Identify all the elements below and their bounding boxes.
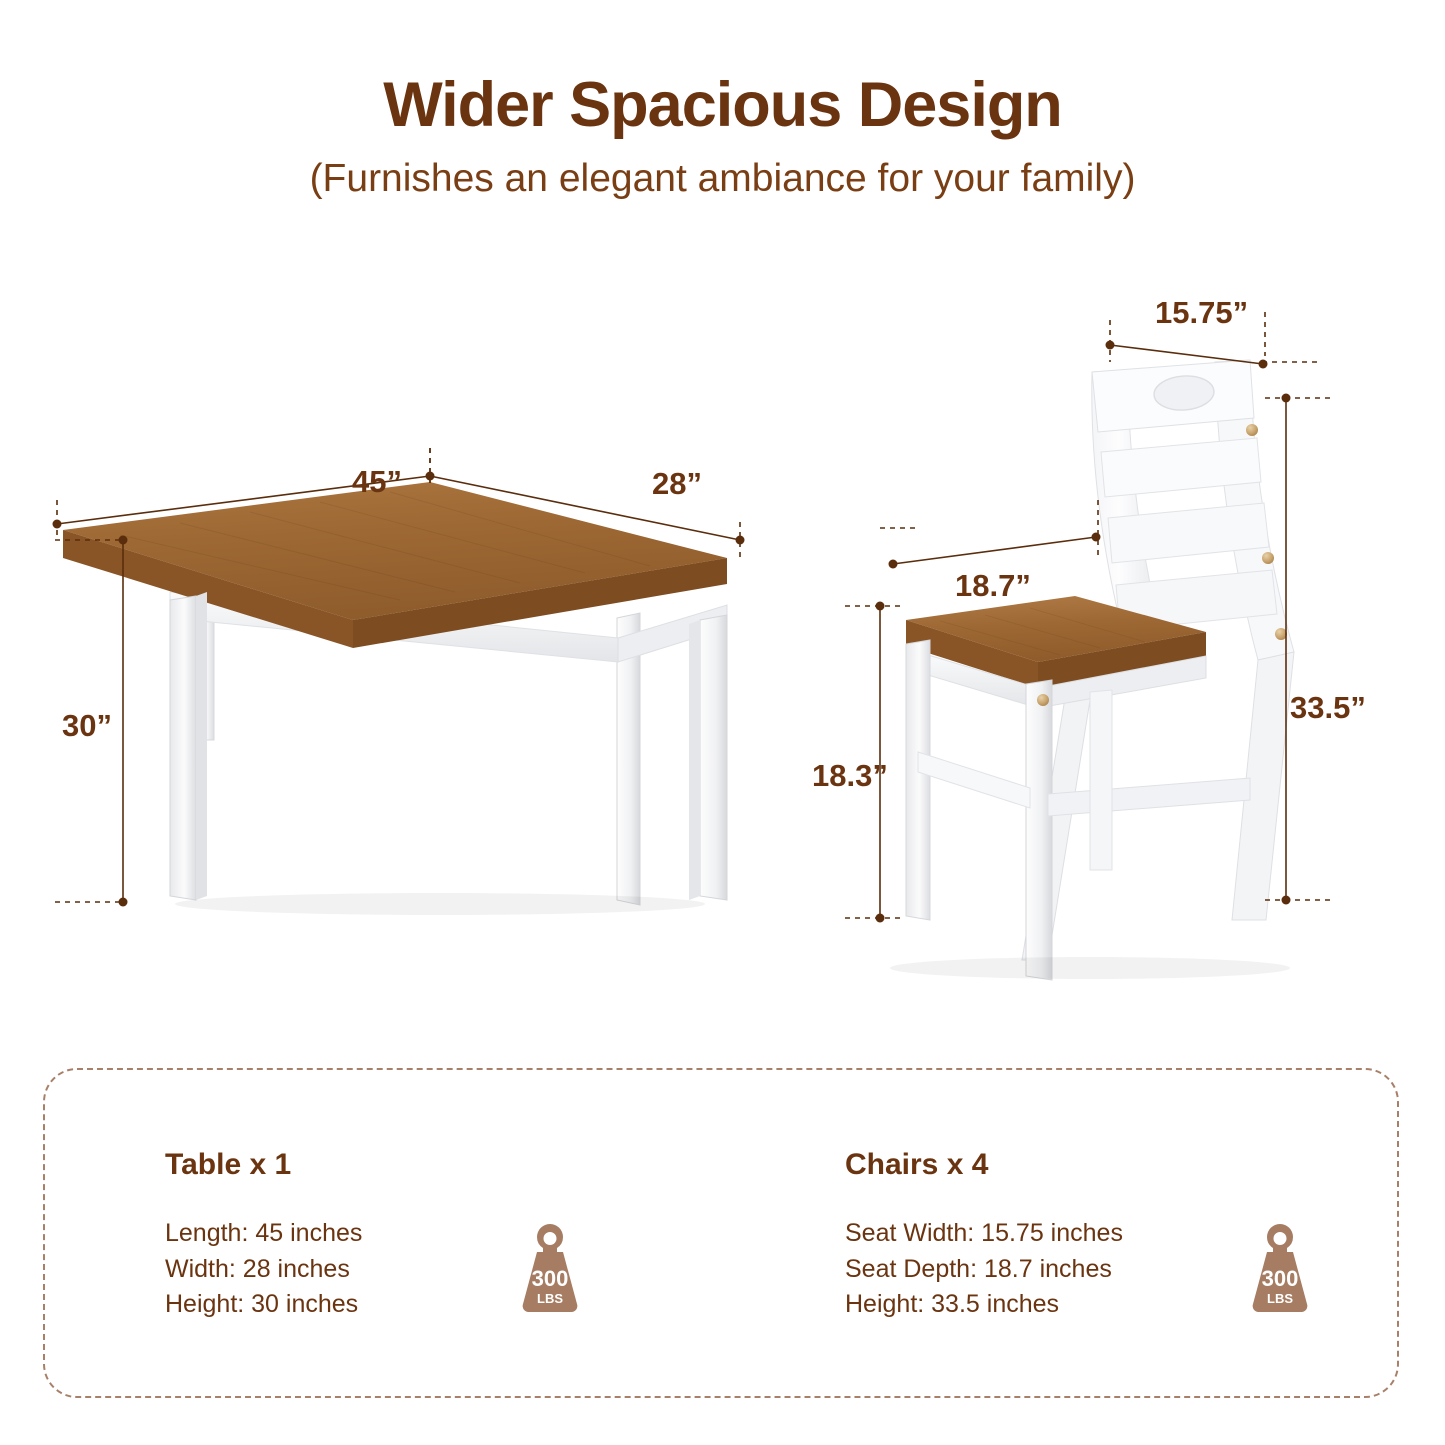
weight-icon: 300 LBS — [1241, 1220, 1319, 1316]
spec-title-chairs: Chairs x 4 — [845, 1148, 1123, 1182]
spec-line-table-length: Length: 45 inches — [165, 1216, 362, 1252]
dimension-label-chair-seat-height: 18.3” — [812, 758, 888, 794]
chair-stretcher-left — [918, 752, 1030, 808]
chair-shadow — [890, 957, 1290, 979]
chair-screw-cap — [1246, 424, 1258, 436]
chair-screw-cap — [1262, 552, 1274, 564]
weight-icon: 300 LBS — [511, 1220, 589, 1316]
table-illustration — [53, 448, 745, 915]
chair-stretcher-center — [1090, 690, 1112, 870]
dimension-line-chair-seat-depth — [880, 500, 1101, 569]
spec-panel: Table x 1 Length: 45 inches Width: 28 in… — [43, 1068, 1399, 1398]
dimension-label-table-width: 28” — [652, 466, 702, 502]
weight-unit: LBS — [1267, 1291, 1293, 1306]
chair-illustration — [845, 312, 1330, 980]
table-leg-front-right — [689, 615, 727, 900]
spec-line-chair-height: Height: 33.5 inches — [845, 1287, 1123, 1323]
dimension-label-chair-seat-depth: 18.7” — [955, 568, 1031, 604]
figures-svg — [0, 300, 1445, 1060]
spec-line-chair-seat-depth: Seat Depth: 18.7 inches — [845, 1252, 1123, 1288]
spec-column-table: Table x 1 Length: 45 inches Width: 28 in… — [165, 1148, 362, 1323]
spec-column-chairs: Chairs x 4 Seat Width: 15.75 inches Seat… — [845, 1148, 1123, 1323]
page-title: Wider Spacious Design — [0, 72, 1445, 138]
dimension-label-chair-seat-width: 15.75” — [1155, 295, 1248, 331]
product-illustrations: 45” 28” 30” 15.75” 18.7” 18.3” 33.5” — [0, 300, 1445, 1060]
weight-unit: LBS — [537, 1291, 563, 1306]
table-leg-front-left — [170, 592, 207, 900]
header: Wider Spacious Design (Furnishes an eleg… — [0, 0, 1445, 201]
weight-capacity-table: 300 LBS — [511, 1220, 589, 1321]
chair-screw-cap — [1037, 694, 1049, 706]
weight-value: 300 — [532, 1266, 569, 1291]
spec-line-chair-seat-width: Seat Width: 15.75 inches — [845, 1216, 1123, 1252]
dimension-label-chair-height: 33.5” — [1290, 690, 1366, 726]
page-subtitle: (Furnishes an elegant ambiance for your … — [0, 158, 1445, 201]
chair-stretcher-front — [1048, 778, 1250, 816]
dimension-label-table-length: 45” — [352, 464, 402, 500]
chair-leg-front-right — [1026, 680, 1052, 980]
spec-title-table: Table x 1 — [165, 1148, 362, 1182]
chair-leg-front-left — [906, 640, 930, 920]
spec-line-table-width: Width: 28 inches — [165, 1252, 362, 1288]
weight-capacity-chairs: 300 LBS — [1241, 1220, 1319, 1321]
weight-value: 300 — [1262, 1266, 1299, 1291]
table-shadow — [175, 893, 705, 915]
spec-line-table-height: Height: 30 inches — [165, 1287, 362, 1323]
dimension-label-table-height: 30” — [62, 708, 112, 744]
